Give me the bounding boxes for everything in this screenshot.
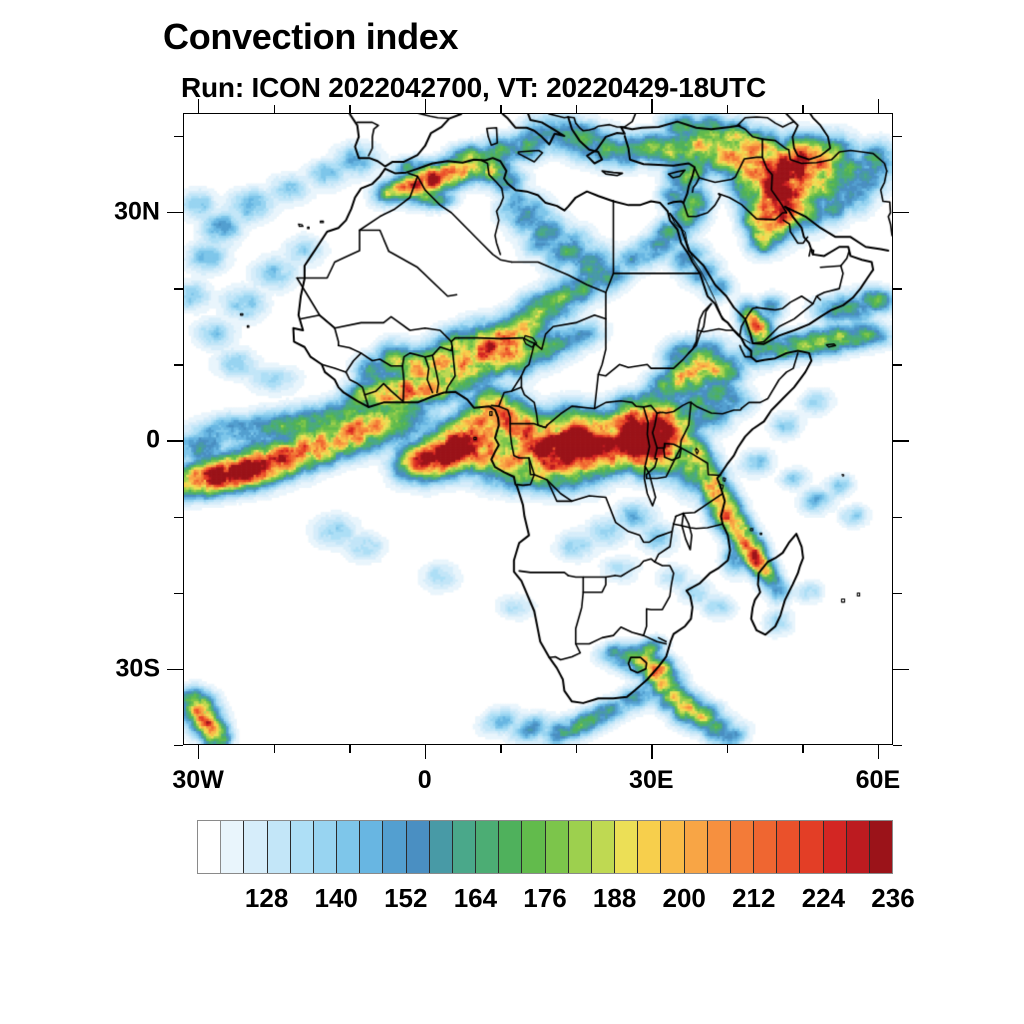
colorbar-cell-5[interactable] (314, 821, 337, 873)
colorbar-cell-27[interactable] (824, 821, 847, 873)
colorbar-cell-26[interactable] (800, 821, 823, 873)
colorbar-label-236: 236 (871, 883, 914, 914)
colorbar-cell-1[interactable] (221, 821, 244, 873)
tick-lat-right--10 (893, 517, 902, 518)
tick-lat-30 (167, 212, 183, 213)
colorbar-cell-28[interactable] (847, 821, 870, 873)
convection-index-map (184, 114, 892, 744)
colorbar-cell-3[interactable] (268, 821, 291, 873)
colorbar-cell-18[interactable] (615, 821, 638, 873)
colorbar-label-188: 188 (593, 883, 636, 914)
tick-lon-top-10 (500, 105, 501, 113)
tick-lat-0 (167, 440, 183, 441)
tick-lat-right-30 (893, 212, 909, 213)
tick-lat-10 (174, 364, 183, 365)
colorbar-label-140: 140 (314, 883, 357, 914)
colorbar-label-212: 212 (732, 883, 775, 914)
tick-lon-30 (651, 745, 652, 759)
tick-lon--20 (274, 745, 275, 753)
tick-lon-40 (727, 745, 728, 753)
colorbar-cell-0[interactable] (198, 821, 221, 873)
colorbar-cell-12[interactable] (476, 821, 499, 873)
colorbar-cell-19[interactable] (638, 821, 661, 873)
tick-lat-right--30 (893, 669, 909, 670)
colorbar-cell-7[interactable] (360, 821, 383, 873)
colorbar-cell-9[interactable] (407, 821, 430, 873)
colorbar-cell-21[interactable] (685, 821, 708, 873)
colorbar-label-224: 224 (802, 883, 845, 914)
y-axis-label-30N: 30N (60, 197, 160, 226)
tick-lon--10 (349, 745, 350, 753)
tick-lat-right--40 (893, 745, 902, 746)
tick-lat-right-40 (893, 136, 902, 137)
colorbar-cell-24[interactable] (754, 821, 777, 873)
x-axis-label-0: 0 (418, 766, 432, 795)
colorbar-cell-20[interactable] (661, 821, 684, 873)
tick-lat--10 (174, 517, 183, 518)
colorbar-label-176: 176 (523, 883, 566, 914)
colorbar-cell-16[interactable] (569, 821, 592, 873)
colorbar-cell-11[interactable] (453, 821, 476, 873)
x-axis-label-30W: 30W (172, 766, 223, 795)
colorbar-label-128: 128 (245, 883, 288, 914)
tick-lon-20 (576, 745, 577, 753)
tick-lat-right-10 (893, 364, 902, 365)
colorbar-cell-4[interactable] (291, 821, 314, 873)
colorbar-label-152: 152 (384, 883, 427, 914)
tick-lat-right-0 (893, 440, 909, 441)
tick-lon-top--30 (198, 99, 199, 113)
tick-lon--30 (198, 745, 199, 759)
tick-lat--30 (167, 669, 183, 670)
colorbar-cell-6[interactable] (337, 821, 360, 873)
colorbar-cell-17[interactable] (592, 821, 615, 873)
tick-lon-10 (500, 745, 501, 753)
colorbar-cell-10[interactable] (430, 821, 453, 873)
colorbar-cell-25[interactable] (777, 821, 800, 873)
tick-lon-top--20 (274, 105, 275, 113)
map-panel[interactable] (183, 113, 893, 745)
tick-lon-0 (425, 745, 426, 759)
colorbar-label-200: 200 (662, 883, 705, 914)
colorbar-label-164: 164 (454, 883, 497, 914)
tick-lat-20 (174, 288, 183, 289)
tick-lat-right-20 (893, 288, 902, 289)
tick-lon-top-40 (727, 105, 728, 113)
colorbar-cell-22[interactable] (708, 821, 731, 873)
tick-lon-top--10 (349, 105, 350, 113)
tick-lat--40 (174, 745, 183, 746)
x-axis-label-30E: 30E (629, 766, 673, 795)
tick-lon-top-20 (576, 105, 577, 113)
tick-lat--20 (174, 593, 183, 594)
colorbar-cell-15[interactable] (546, 821, 569, 873)
colorbar-cell-13[interactable] (499, 821, 522, 873)
tick-lon-50 (802, 745, 803, 753)
colorbar-cell-29[interactable] (870, 821, 892, 873)
tick-lon-top-0 (425, 99, 426, 113)
x-axis-label-60E: 60E (856, 766, 900, 795)
colorbar-cell-23[interactable] (731, 821, 754, 873)
page-title: Convection index (163, 16, 458, 58)
page-subtitle: Run: ICON 2022042700, VT: 20220429-18UTC (181, 72, 766, 104)
tick-lat-40 (174, 136, 183, 137)
y-axis-label-0: 0 (60, 426, 160, 455)
tick-lat-right--20 (893, 593, 902, 594)
y-axis-label-30S: 30S (60, 654, 160, 683)
tick-lon-60 (878, 745, 879, 759)
tick-lon-top-50 (802, 105, 803, 113)
tick-lon-top-30 (651, 99, 652, 113)
colorbar-cell-2[interactable] (244, 821, 267, 873)
colorbar-cell-14[interactable] (522, 821, 545, 873)
tick-lon-top-60 (878, 99, 879, 113)
colorbar-cell-8[interactable] (383, 821, 406, 873)
colorbar[interactable] (197, 820, 893, 874)
figure-root: Convection index Run: ICON 2022042700, V… (0, 0, 1024, 1024)
